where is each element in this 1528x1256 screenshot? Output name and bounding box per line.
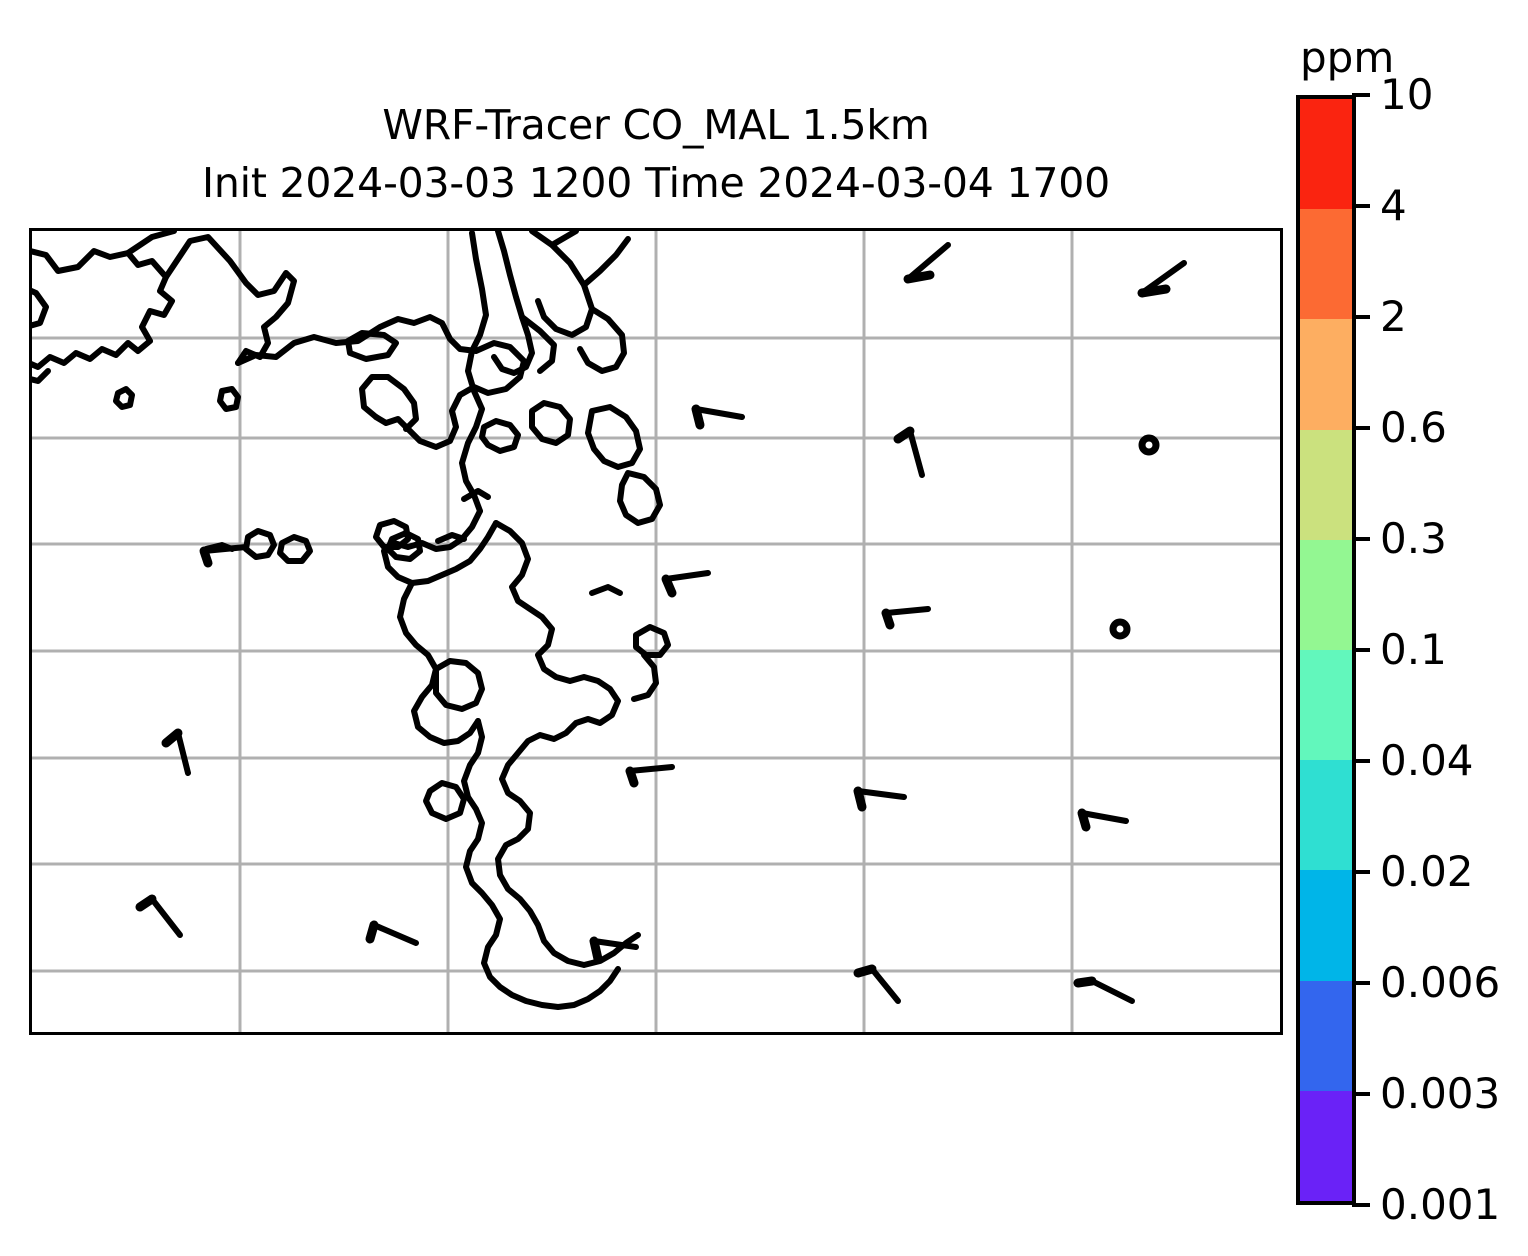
colorbar-tick-mark <box>1352 426 1370 430</box>
coastline-path <box>620 473 660 523</box>
coastline-path <box>438 535 464 541</box>
colorbar-tick-mark <box>1352 648 1370 652</box>
coastline-path <box>348 333 396 359</box>
colorbar-tick-list: 10420.60.30.10.040.020.0060.0030.001 <box>1352 95 1528 1205</box>
colorbar[interactable] <box>1296 95 1356 1205</box>
colorbar-tick-mark <box>1352 204 1370 208</box>
colorbar-band <box>1300 650 1352 760</box>
wind-barb-overlay <box>140 245 1184 1001</box>
figure-canvas: WRF-Tracer CO_MAL 1.5km Init 2024-03-03 … <box>0 0 1528 1256</box>
coastline-path <box>482 421 518 451</box>
colorbar-tick-label: 0.006 <box>1380 962 1500 1004</box>
colorbar-tick-label: 0.02 <box>1380 851 1474 893</box>
colorbar-band <box>1300 870 1352 980</box>
colorbar-tick-label: 0.3 <box>1380 518 1447 560</box>
colorbar-tick-label: 0.1 <box>1380 629 1447 671</box>
colorbar-tick-label: 4 <box>1380 185 1407 227</box>
colorbar-tick-label: 0.04 <box>1380 740 1474 782</box>
coastline-overlay <box>32 231 668 1007</box>
wind-barb <box>696 409 742 425</box>
colorbar-tick-label: 0.6 <box>1380 407 1447 449</box>
colorbar-tick-mark <box>1352 759 1370 763</box>
coastline-path <box>584 239 628 285</box>
coastline-path <box>634 655 656 699</box>
colorbar-band <box>1300 1091 1352 1201</box>
coastline-path <box>426 783 464 819</box>
coastline-path <box>32 249 172 367</box>
colorbar-tick-mark <box>1352 315 1370 319</box>
colorbar-band <box>1300 981 1352 1091</box>
chart-title-line1: WRF-Tracer CO_MAL 1.5km <box>29 96 1283 154</box>
colorbar-tick-mark <box>1352 1203 1370 1207</box>
colorbar-tick-mark <box>1352 537 1370 541</box>
chart-title: WRF-Tracer CO_MAL 1.5km Init 2024-03-03 … <box>29 96 1283 212</box>
coastline-path <box>128 231 174 253</box>
coastline-path <box>32 287 46 327</box>
wind-barb <box>370 925 416 943</box>
wind-barb <box>1078 981 1132 1001</box>
colorbar-band <box>1300 430 1352 540</box>
wind-barb <box>1082 813 1126 827</box>
colorbar-tick-mark <box>1352 981 1370 985</box>
colorbar-band <box>1300 319 1352 429</box>
colorbar-tick-mark <box>1352 870 1370 874</box>
coastline-path <box>552 231 576 245</box>
coastline-path <box>116 389 132 407</box>
colorbar-band <box>1300 209 1352 319</box>
wind-barb <box>886 609 928 625</box>
colorbar-tick-label: 0.003 <box>1380 1073 1500 1115</box>
colorbar-band <box>1300 99 1352 209</box>
colorbar-band <box>1300 760 1352 870</box>
coastline-path <box>436 661 482 709</box>
wind-barb-calm <box>1113 622 1127 636</box>
wind-barb <box>630 767 672 783</box>
coastline-path <box>462 233 486 511</box>
map-panel[interactable] <box>29 228 1283 1035</box>
colorbar-bands <box>1300 99 1352 1201</box>
wind-barb <box>166 733 188 773</box>
coastline-path <box>220 389 238 409</box>
wind-barb-calm <box>1142 438 1156 452</box>
wind-barb <box>140 899 180 935</box>
wind-barb <box>1142 263 1184 293</box>
colorbar-tick-label: 0.001 <box>1380 1184 1500 1226</box>
colorbar-tick-mark <box>1352 93 1370 97</box>
map-plot-area <box>32 231 1280 1032</box>
coastline-path <box>32 371 48 381</box>
coastline-path <box>592 587 620 593</box>
wind-barb <box>666 573 708 593</box>
colorbar-band <box>1300 540 1352 650</box>
colorbar-tick-mark <box>1352 1092 1370 1096</box>
coastline-path <box>280 537 310 561</box>
chart-title-line2: Init 2024-03-03 1200 Time 2024-03-04 170… <box>29 154 1283 212</box>
colorbar-tick-label: 2 <box>1380 296 1407 338</box>
coastline-path <box>166 237 294 363</box>
colorbar-tick-label: 10 <box>1380 74 1433 116</box>
wind-barb <box>908 245 948 279</box>
